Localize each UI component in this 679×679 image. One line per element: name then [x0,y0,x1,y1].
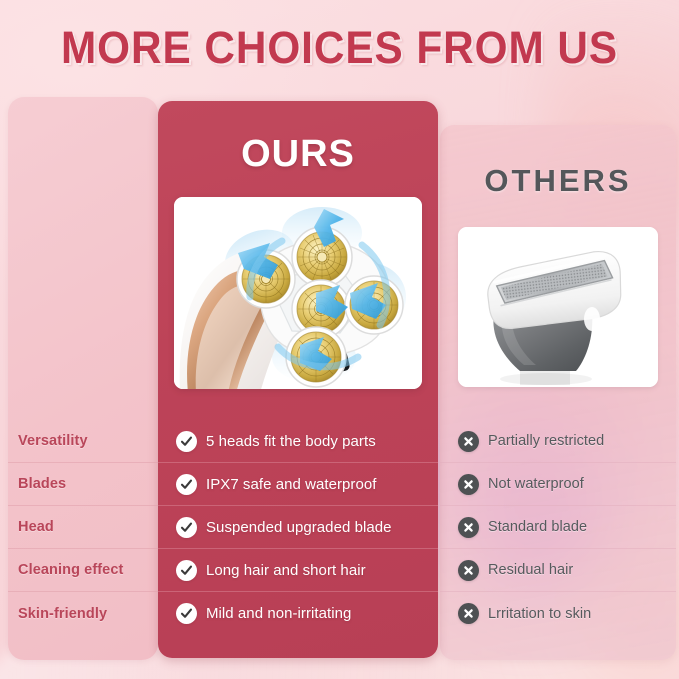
others-feature-row: Lrritation to skin [440,592,676,635]
cross-circle-icon [458,603,479,624]
comparison-infographic: MORE CHOICES FROM US OURS OTHERS [0,0,679,679]
others-product-image [458,227,658,387]
cross-circle-icon [458,431,479,452]
criteria-row: Cleaning effect [8,549,158,592]
ours-product-image: 90 % [174,197,422,389]
criteria-label: Skin-friendly [18,606,107,622]
ours-feature-label: Long hair and short hair [206,562,366,579]
others-feature-row: Not waterproof [440,463,676,506]
check-circle-icon [176,431,197,452]
ours-feature-label: 5 heads fit the body parts [206,433,376,450]
page-title: MORE CHOICES FROM US [20,22,658,74]
ours-feature-label: Suspended upgraded blade [206,519,392,536]
others-feature-rows: Partially restricted Not waterproof Stan… [440,420,676,635]
cross-circle-icon [458,560,479,581]
ours-feature-rows: 5 heads fit the body parts IPX7 safe and… [158,420,438,635]
others-feature-label: Partially restricted [488,433,604,449]
others-feature-label: Residual hair [488,562,573,578]
check-circle-icon [176,603,197,624]
others-heading: OTHERS [440,162,676,200]
ours-feature-row: 5 heads fit the body parts [158,420,438,463]
ours-feature-row: Suspended upgraded blade [158,506,438,549]
criteria-label: Versatility [18,433,88,449]
ours-feature-row: Mild and non-irritating [158,592,438,635]
criteria-row: Versatility [8,420,158,463]
check-circle-icon [176,517,197,538]
foil-shaver-icon [458,227,658,387]
criteria-label: Cleaning effect [18,562,123,578]
criteria-rows: Versatility Blades Head Cleaning effect … [8,420,158,635]
five-head-rotary-shaver-icon: 90 % [174,197,422,389]
criteria-row: Blades [8,463,158,506]
others-feature-row: Partially restricted [440,420,676,463]
criteria-row: Head [8,506,158,549]
criteria-row: Skin-friendly [8,592,158,635]
others-feature-label: Not waterproof [488,476,584,492]
others-feature-label: Lrritation to skin [488,606,591,622]
ours-heading: OURS [158,132,438,176]
criteria-label: Blades [18,476,66,492]
others-feature-row: Standard blade [440,506,676,549]
ours-feature-row: IPX7 safe and waterproof [158,463,438,506]
cross-circle-icon [458,474,479,495]
ours-feature-row: Long hair and short hair [158,549,438,592]
others-feature-label: Standard blade [488,519,587,535]
others-feature-row: Residual hair [440,549,676,592]
ours-feature-label: IPX7 safe and waterproof [206,476,376,493]
check-circle-icon [176,560,197,581]
check-circle-icon [176,474,197,495]
ours-feature-label: Mild and non-irritating [206,605,351,622]
criteria-label: Head [18,519,54,535]
cross-circle-icon [458,517,479,538]
